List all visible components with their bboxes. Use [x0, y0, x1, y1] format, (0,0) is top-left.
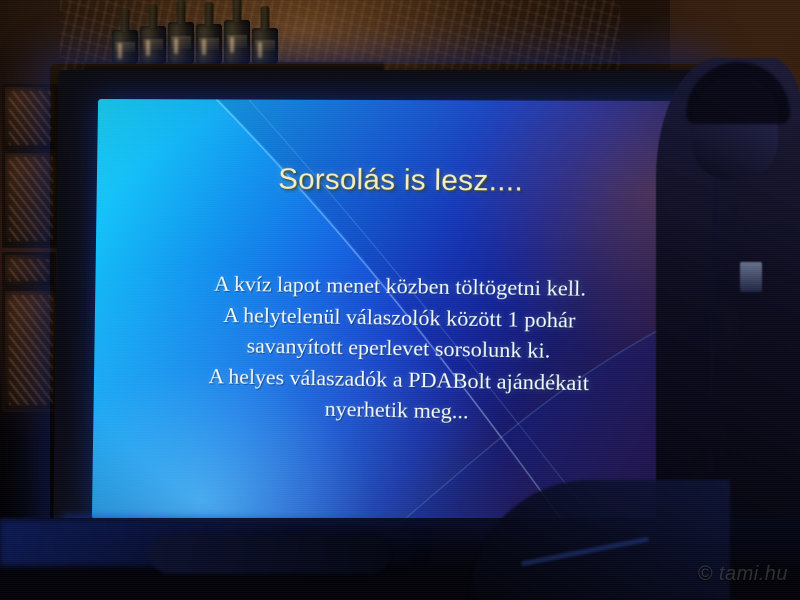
slide-body: A kvíz lapot menet közben töltögetni kel… [121, 267, 681, 431]
wine-bottle [252, 28, 278, 64]
wine-bottle [168, 22, 194, 64]
foreground-object [150, 534, 390, 574]
wine-bottle [224, 20, 250, 64]
slide-title: Sorsolás is lesz.... [97, 162, 713, 200]
photo-scene: Sorsolás is lesz.... A kvíz lapot menet … [0, 0, 800, 600]
person-badge [740, 262, 762, 292]
wall-relief [2, 150, 60, 248]
watermark: © tami.hu [698, 563, 788, 586]
wall-relief [2, 84, 58, 152]
wall-relief [2, 252, 56, 288]
wine-bottle [112, 30, 138, 64]
wine-bottle [196, 24, 222, 64]
wine-bottle [140, 26, 166, 64]
projected-slide: Sorsolás is lesz.... A kvíz lapot menet … [92, 99, 714, 535]
slide-text-content: Sorsolás is lesz.... A kvíz lapot menet … [92, 99, 714, 535]
wall-relief [2, 288, 60, 412]
